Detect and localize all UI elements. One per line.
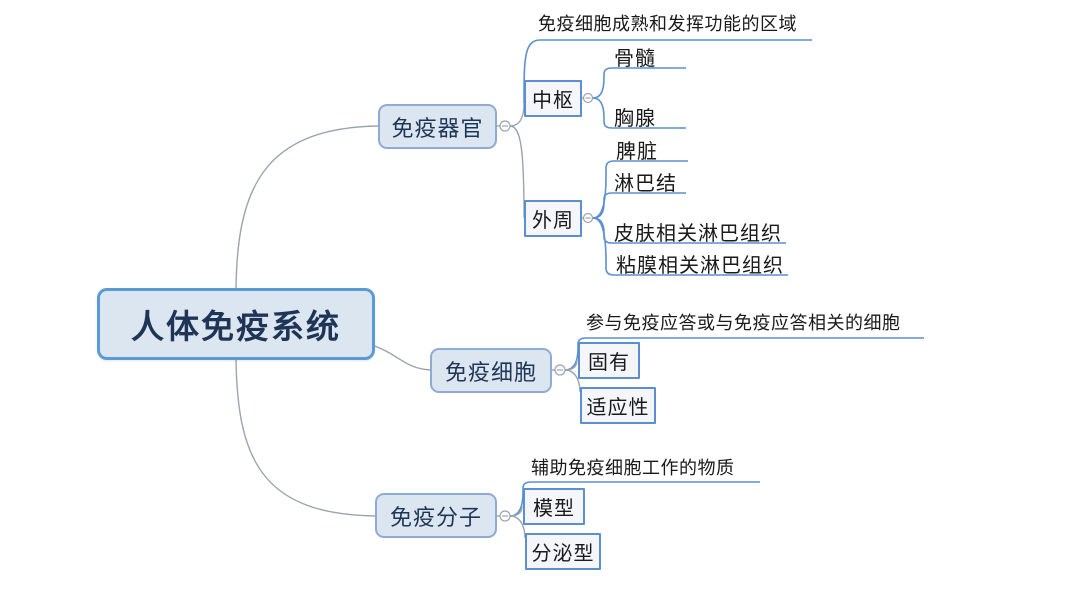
branch-topic-label-immune-molecule: 免疫分子 — [390, 500, 482, 532]
subtopic-label-innate: 固有 — [588, 346, 630, 375]
leaf-topic-skin-associated-lymphoid-tissue[interactable]: 皮肤相关淋巴组织 — [608, 218, 798, 244]
branch-topic-immune-molecule[interactable]: 免疫分子 — [375, 493, 497, 538]
subtopic-adaptive[interactable]: 适应性 — [580, 387, 656, 424]
leaf-label-mucosa-associated-lymphoid-tissue: 粘膜相关淋巴组织 — [616, 249, 784, 278]
connector-immune-organ-to-peripheral — [510, 126, 524, 218]
annotation-text-immune-organ: 免疫细胞成熟和发挥功能的区域 — [538, 10, 797, 36]
connector-root-to-immune-organ — [236, 126, 378, 295]
leaf-topic-mucosa-associated-lymphoid-tissue[interactable]: 粘膜相关淋巴组织 — [610, 250, 800, 276]
root-topic-human-immune-system[interactable]: 人体免疫系统 — [97, 288, 375, 360]
leaf-label-skin-associated-lymphoid-tissue: 皮肤相关淋巴组织 — [614, 217, 782, 246]
root-topic-label: 人体免疫系统 — [131, 300, 341, 348]
subtopic-label-peripheral: 外周 — [532, 204, 574, 233]
annotation-text-immune-molecule: 辅助免疫细胞工作的物质 — [531, 454, 735, 480]
branch-topic-immune-organ[interactable]: 免疫器官 — [378, 104, 497, 149]
underline-leaf-linbajie — [593, 193, 686, 218]
leaf-topic-spleen[interactable]: 脾脏 — [610, 136, 700, 162]
annotation-immune-cell: 参与免疫应答或与免疫应答相关的细胞 — [580, 307, 940, 337]
connector-immune-cell-to-innate — [565, 360, 577, 370]
subtopic-secreted[interactable]: 分泌型 — [525, 533, 601, 570]
leaf-label-bone-marrow: 骨髓 — [614, 42, 656, 71]
subtopic-label-adaptive: 适应性 — [587, 391, 650, 420]
leaf-label-spleen: 脾脏 — [616, 135, 658, 164]
mindmap-canvas: 人体免疫系统 免疫器官 免疫细胞成熟和发挥功能的区域 中枢 骨髓 胸腺 外周 脾… — [0, 0, 1080, 616]
leaf-label-thymus: 胸腺 — [614, 102, 656, 131]
subtopic-label-secreted: 分泌型 — [532, 537, 595, 566]
leaf-topic-bone-marrow[interactable]: 骨髓 — [608, 43, 698, 69]
leaf-topic-lymph-node[interactable]: 淋巴结 — [608, 168, 718, 194]
annotation-immune-molecule: 辅助免疫细胞工作的物质 — [525, 452, 785, 482]
subtopic-label-model: 模型 — [533, 492, 575, 521]
annotation-text-immune-cell: 参与免疫应答或与免疫应答相关的细胞 — [586, 309, 901, 335]
branch-topic-label-immune-cell: 免疫细胞 — [445, 355, 537, 387]
underline-leaf-gusui — [593, 68, 686, 98]
leaf-topic-thymus[interactable]: 胸腺 — [608, 103, 698, 129]
branch-topic-label-immune-organ: 免疫器官 — [391, 111, 483, 143]
subtopic-central[interactable]: 中枢 — [524, 80, 582, 117]
connector-immune-organ-to-central — [510, 103, 524, 126]
subtopic-peripheral[interactable]: 外周 — [524, 200, 582, 237]
branch-topic-immune-cell[interactable]: 免疫细胞 — [430, 348, 552, 393]
leaf-label-lymph-node: 淋巴结 — [614, 167, 677, 196]
connector-root-to-immune-cell — [372, 345, 430, 370]
subtopic-innate[interactable]: 固有 — [578, 342, 640, 379]
subtopic-label-central: 中枢 — [532, 84, 574, 113]
annotation-immune-organ: 免疫细胞成熟和发挥功能的区域 — [532, 8, 832, 38]
connector-root-to-immune-molecule — [236, 352, 375, 516]
subtopic-model[interactable]: 模型 — [523, 488, 585, 525]
